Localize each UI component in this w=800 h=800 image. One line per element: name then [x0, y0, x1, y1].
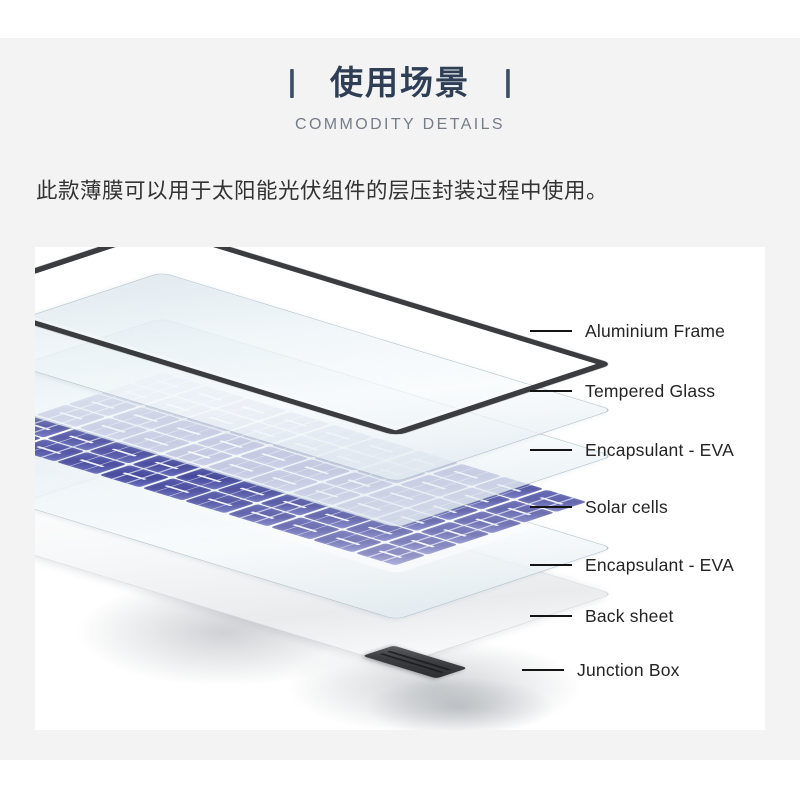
callout-leader-line [522, 669, 564, 672]
callout-row: Tempered Glass [530, 380, 715, 402]
callout-label: Solar cells [585, 497, 668, 518]
title-row: 使用场景 [0, 60, 800, 106]
callout-leader-line [530, 390, 572, 393]
callout-leader-line [530, 330, 572, 333]
callout-row: Back sheet [530, 605, 674, 627]
diagram-card: Aluminium FrameTempered GlassEncapsulant… [35, 247, 765, 730]
callout-row: Encapsulant - EVA [530, 439, 734, 461]
callout-label: Tempered Glass [585, 381, 715, 402]
page-subtitle: COMMODITY DETAILS [0, 116, 800, 134]
callout-row: Junction Box [522, 659, 680, 681]
page-title: 使用场景 [330, 63, 470, 103]
diagram-callouts: Aluminium FrameTempered GlassEncapsulant… [35, 247, 765, 730]
callout-leader-line [530, 506, 572, 509]
section-header: 使用场景 COMMODITY DETAILS [0, 60, 800, 134]
callout-leader-line [530, 564, 572, 567]
callout-label: Encapsulant - EVA [585, 440, 734, 461]
title-right-tick-icon [506, 69, 510, 98]
callout-leader-line [530, 449, 572, 452]
callout-label: Junction Box [577, 660, 680, 681]
callout-label: Back sheet [585, 606, 674, 627]
description-text: 此款薄膜可以用于太阳能光伏组件的层压封装过程中使用。 [36, 176, 766, 206]
callout-leader-line [530, 615, 572, 618]
callout-row: Aluminium Frame [530, 320, 725, 342]
callout-label: Encapsulant - EVA [585, 555, 734, 576]
callout-row: Encapsulant - EVA [530, 554, 734, 576]
callout-row: Solar cells [530, 496, 668, 518]
page-root: 使用场景 COMMODITY DETAILS 此款薄膜可以用于太阳能光伏组件的层… [0, 0, 800, 800]
callout-label: Aluminium Frame [585, 321, 725, 342]
title-left-tick-icon [290, 69, 294, 98]
